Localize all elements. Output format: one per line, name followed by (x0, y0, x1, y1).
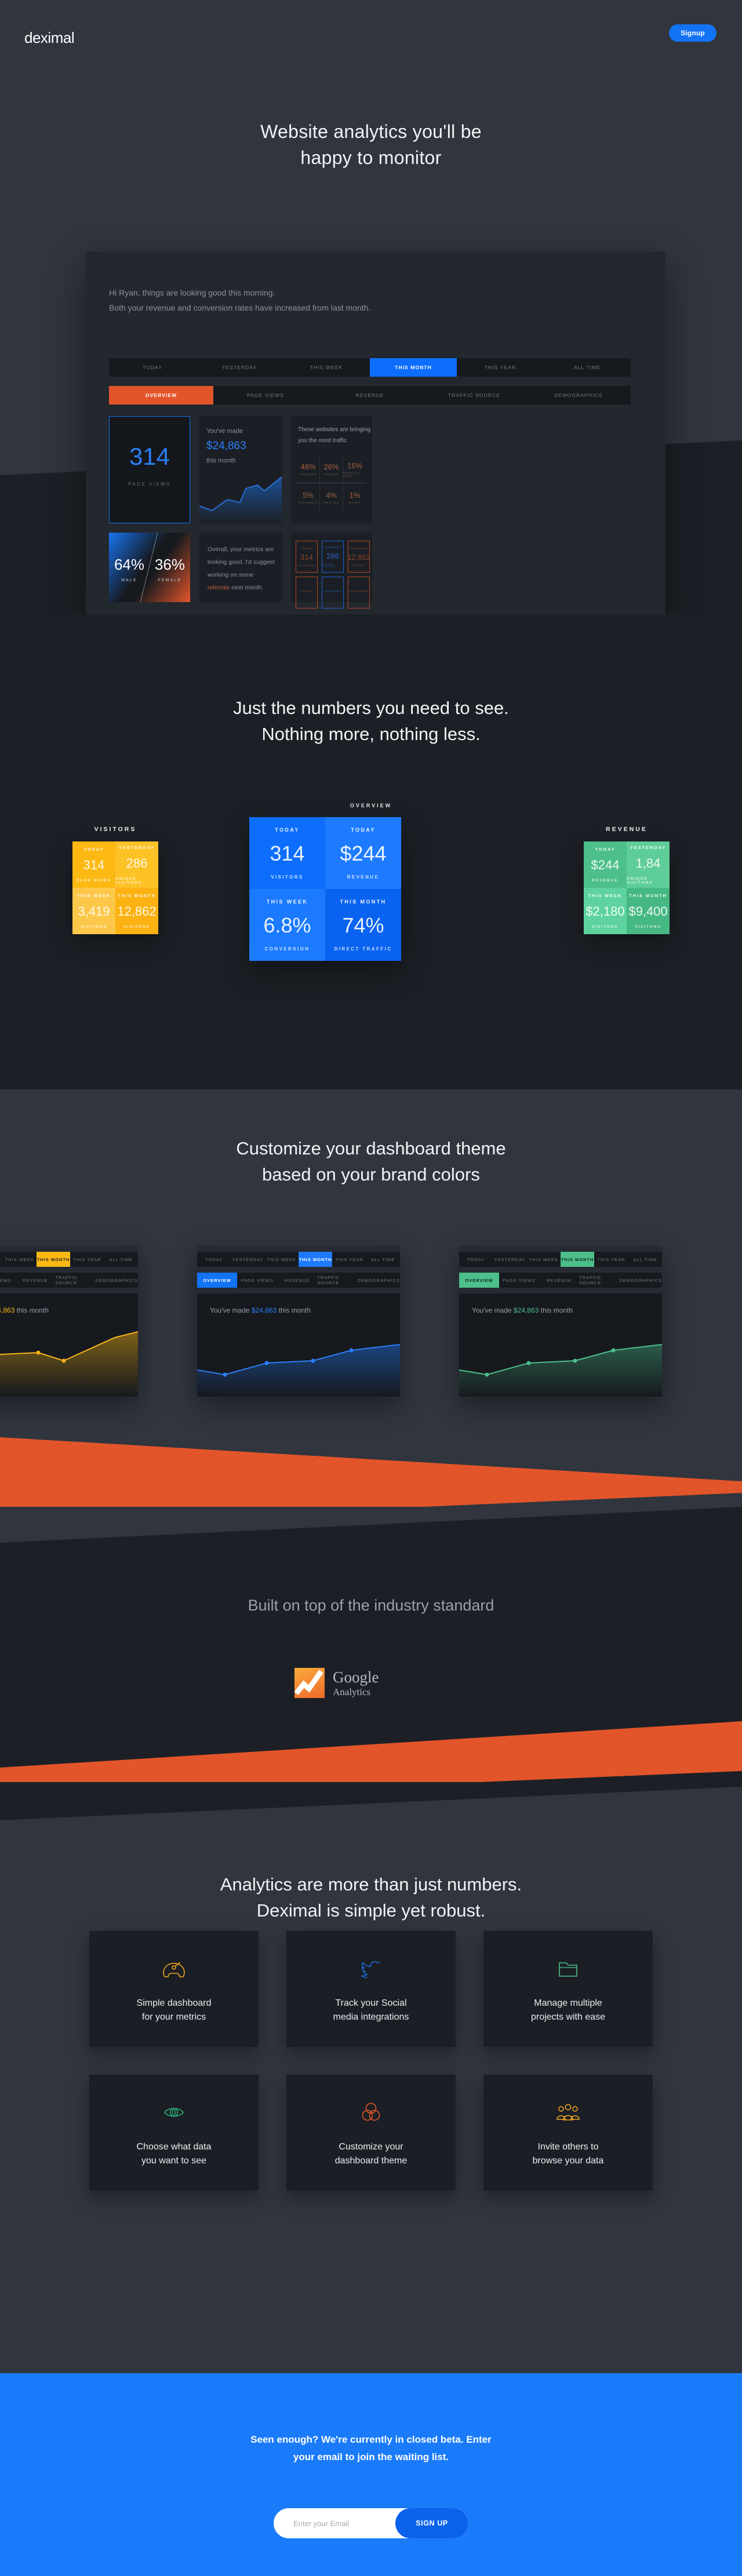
feature-label: Customize your dashboard theme (335, 2140, 408, 2168)
traffic-item: 16%PRODUCT HUNT (343, 456, 366, 483)
section-tab-traffic-source[interactable]: TRAFFIC SOURCE (317, 1273, 357, 1288)
hero-title-line-1: Website analytics you'll be (0, 119, 742, 145)
mini-box-row: TODAY YESTERDAY THIS MONTH (296, 577, 370, 609)
hero-section: deximal Signup Website analytics you'll … (0, 0, 742, 614)
section-tab-demographics[interactable]: DEMOGRAPHICS (357, 1273, 400, 1288)
range-tab-this-year[interactable]: THIS YEAR (332, 1252, 366, 1267)
range-tab-today[interactable]: TODAY (109, 358, 196, 377)
visitors-group-label: VISITORS (72, 826, 158, 833)
traffic-item: 26%GOOGLE (320, 456, 343, 483)
mini-stat-box: TODAY314PAGE VIEWS (296, 541, 318, 573)
female-value: 36% (150, 556, 190, 574)
theme-chart-body: You've made $24,863 this month (459, 1294, 662, 1397)
features-wedge (0, 1782, 742, 1823)
range-tab-this-week[interactable]: THIS WEEK (527, 1252, 561, 1267)
visitors-tile-grid: TODAY314PAGE VIEWS YESTERDAY286UNIQUE VI… (72, 841, 158, 934)
gender-male: 64% MALE (109, 556, 150, 582)
mini-stat-box: TODAY (296, 577, 318, 609)
cta-headline: Seen enough? We're currently in closed b… (0, 2431, 742, 2466)
advice-highlight: referrals (208, 584, 230, 591)
range-tab-this-week[interactable]: THIS WEEK (265, 1252, 299, 1267)
revenue-group-label: REVENUE (584, 826, 670, 833)
page-title: Website analytics you'll be happy to mon… (0, 119, 742, 172)
greeting-line-2: Both your revenue and conversion rates h… (109, 300, 370, 315)
mini-stat-box: THIS MONTH (348, 577, 370, 609)
greeting-line-1: Hi Ryan, things are looking good this mo… (109, 285, 370, 300)
stat-tile: THIS WEEK3,419VISITORS (72, 888, 115, 934)
range-tab-today[interactable]: TODAY (459, 1252, 493, 1267)
theme-section-tabs[interactable]: OVERVIEW PAGE VIEWS REVENUE TRAFFIC SOUR… (197, 1273, 400, 1288)
theme-title-line-1: Customize your dashboard theme (0, 1136, 742, 1162)
revenue-pre: You've made (206, 425, 246, 438)
folder-icon (556, 1954, 580, 1984)
hero-title-line-2: happy to monitor (0, 145, 742, 171)
advice-card: Overall, your metrics are looking good. … (199, 533, 282, 602)
eye-icon (162, 2097, 185, 2127)
mini-stat-box: YESTERDAY (322, 577, 344, 609)
cta-section: Seen enough? We're currently in closed b… (0, 2373, 742, 2576)
traffic-pct: 16% (347, 461, 362, 470)
revenue-sparkline (199, 476, 282, 523)
advice-text: Overall, your metrics are looking good. … (208, 543, 276, 594)
numbers-title-line-1: Just the numbers you need to see. (0, 695, 742, 722)
gauge-icon (162, 1954, 185, 1984)
range-tab-all-time[interactable]: ALL TIME (366, 1252, 400, 1267)
range-tab-all-time[interactable]: ALL TIME (628, 1252, 662, 1267)
cta-line-1: Seen enough? We're currently in closed b… (0, 2431, 742, 2449)
theme-chart-blue (197, 1327, 400, 1397)
traffic-pct: 48% (300, 462, 315, 471)
google-analytics-logo: Google Analytics (294, 1668, 379, 1698)
traffic-name: FACEBOOK (299, 473, 317, 476)
traffic-item: 4%TWITTER (320, 483, 343, 511)
range-tab-this-month[interactable]: THIS MONTH (299, 1252, 332, 1267)
traffic-item: 48%FACEBOOK (297, 456, 320, 483)
range-tab-this-year[interactable]: THIS YEAR (70, 1252, 104, 1267)
theme-range-tabs[interactable]: TODAY YESTERDAY THIS WEEK THIS MONTH THI… (197, 1252, 400, 1267)
dashboard-range-tabs[interactable]: TODAY YESTERDAY THIS WEEK THIS MONTH THI… (109, 358, 631, 377)
theme-preview-blue[interactable]: TODAY YESTERDAY THIS WEEK THIS MONTH THI… (197, 1246, 400, 1397)
section-tab-revenue[interactable]: REVENUE (277, 1273, 317, 1288)
section-tab-revenue[interactable]: REVENUE (318, 386, 422, 405)
range-tab-this-week[interactable]: THIS WEEK (283, 358, 370, 377)
signup-button[interactable]: Signup (669, 24, 716, 42)
theme-caption: You've made $24,863 this month (472, 1306, 573, 1314)
traffic-name: PRODUCT HUNT (343, 472, 366, 478)
range-tab-all-time[interactable]: ALL TIME (544, 358, 631, 377)
traffic-pct: 5% (303, 491, 314, 500)
google-title: Built on top of the industry standard (0, 1597, 742, 1615)
theme-caption: You've made $24,863 this month (0, 1306, 49, 1314)
stat-tile: YESTERDAY1,84UNIQUE VISITORS (627, 841, 670, 888)
section-tab-traffic-source[interactable]: TRAFFIC SOURCE (579, 1273, 619, 1288)
theme-range-tabs[interactable]: TODAY YESTERDAY THIS WEEK THIS MONTH THI… (459, 1252, 662, 1267)
mini-stat-boxes-card: TODAY314PAGE VIEWS YESTERDAY286UNIQUE VI… (291, 533, 372, 602)
section-tab-page-views[interactable]: PAGE VIEWS (237, 1273, 277, 1288)
pageviews-value: 314 (110, 443, 190, 471)
range-tab-today[interactable]: TODAY (197, 1252, 231, 1267)
feature-label: Manage multiple projects with ease (531, 1996, 605, 2024)
features-title-line-2: Deximal is simple yet robust. (0, 1898, 742, 1924)
range-tab-yesterday[interactable]: YESTERDAY (231, 1252, 264, 1267)
stat-tile: THIS MONTH12,862VISITORS (115, 888, 158, 934)
features-title: Analytics are more than just numbers. De… (0, 1872, 742, 1924)
revenue-card: You've made $24,863 this month (199, 416, 282, 523)
analytics-word: Analytics (333, 1687, 379, 1697)
numbers-title: Just the numbers you need to see. Nothin… (0, 695, 742, 748)
stat-tile: THIS WEEK6.8%CONVERSION (249, 889, 325, 961)
section-tab-overview[interactable]: OVERVIEW (459, 1273, 499, 1288)
feature-card-simple-dashboard[interactable]: Simple dashboard for your metrics (89, 1931, 259, 2047)
traffic-grid: 48%FACEBOOK 26%GOOGLE 16%PRODUCT HUNT 5%… (297, 456, 366, 511)
advice-text-a: Overall, your metrics are looking good. … (208, 546, 275, 578)
gender-split-card: 64% MALE 36% FEMALE (109, 533, 190, 602)
gender-female: 36% FEMALE (150, 556, 190, 582)
google-word: Google (333, 1670, 379, 1685)
section-tab-traffic-source[interactable]: TRAFFIC SOURCE (422, 386, 526, 405)
theme-caption-amount: $24,863 (252, 1306, 277, 1314)
feature-card-multiple-projects[interactable]: Manage multiple projects with ease (483, 1931, 653, 2047)
venn-icon (359, 2097, 383, 2127)
google-analytics-wordmark: Google Analytics (333, 1670, 379, 1697)
stat-tile: TODAY314VISITORS (249, 817, 325, 889)
section-tab-overview[interactable]: OVERVIEW (109, 386, 213, 405)
female-label: FEMALE (150, 578, 190, 582)
numbers-title-line-2: Nothing more, nothing less. (0, 722, 742, 748)
stat-tile: TODAY$244REVENUE (325, 817, 401, 889)
dashboard-greeting: Hi Ryan, things are looking good this mo… (109, 285, 370, 315)
feature-card-customize-theme[interactable]: Customize your dashboard theme (286, 2075, 456, 2191)
range-tab-yesterday[interactable]: YESTERDAY (196, 358, 283, 377)
stat-tile: YESTERDAY286UNIQUE VISITORS (115, 841, 158, 888)
section-tab-overview[interactable]: OVERVIEW (197, 1273, 237, 1288)
twitter-icon (359, 1954, 383, 1984)
feature-card-choose-data[interactable]: Choose what data you want to see (89, 2075, 259, 2191)
section-tab-revenue[interactable]: REVENUE (15, 1273, 55, 1288)
range-tab-all-time[interactable]: ALL TIME (104, 1252, 138, 1267)
stat-tile: TODAY314PAGE VIEWS (72, 841, 115, 888)
google-wedge (0, 1507, 742, 1547)
traffic-name: GOOGLE (324, 473, 339, 476)
range-tab-this-year[interactable]: THIS YEAR (457, 358, 544, 377)
people-icon (555, 2097, 581, 2127)
feature-label: Choose what data you want to see (137, 2140, 212, 2168)
section-tab-page-views[interactable]: PAGE VIEWS (213, 386, 318, 405)
revenue-post: this month (206, 455, 246, 467)
overview-tile-grid: TODAY314VISITORS TODAY$244REVENUE THIS W… (249, 817, 401, 961)
theme-chart-yellow (0, 1327, 138, 1397)
section-tab-page-views[interactable]: PAGE VIEWS (0, 1273, 15, 1288)
theme-caption-amount: $24,863 (0, 1306, 14, 1314)
section-tab-page-views[interactable]: PAGE VIEWS (499, 1273, 539, 1288)
stat-tile: THIS MONTH$9,400VISITORS (627, 888, 670, 934)
feature-label: Track your Social media integrations (333, 1996, 409, 2024)
traffic-pct: 1% (350, 491, 361, 500)
range-tab-this-month[interactable]: THIS MONTH (561, 1252, 594, 1267)
mini-stat-box: YESTERDAY286UNIQUE VISITORS (322, 541, 344, 573)
theme-chart-green (459, 1327, 662, 1397)
feature-label: Invite others to browse your data (533, 2140, 604, 2168)
traffic-pct: 4% (326, 491, 337, 500)
male-label: MALE (109, 578, 150, 582)
traffic-name: PINTEREST (299, 501, 318, 504)
theme-section-tabs[interactable]: OVERVIEW PAGE VIEWS REVENUE TRAFFIC SOUR… (0, 1273, 138, 1288)
email-input[interactable] (274, 2508, 395, 2538)
revenue-card-text: You've made $24,863 this month (206, 425, 246, 467)
theme-range-tabs[interactable]: TODAY YESTERDAY THIS WEEK THIS MONTH THI… (0, 1252, 138, 1267)
stat-tile: THIS WEEK$2,180VISITORS (584, 888, 627, 934)
section-tab-traffic-source[interactable]: TRAFFIC SOURCE (55, 1273, 95, 1288)
traffic-heading: These websites are bringing you the most… (298, 424, 370, 446)
theme-chart-body: You've made $24,863 this month (0, 1294, 138, 1397)
signup-form[interactable]: SIGN UP (274, 2508, 468, 2538)
traffic-item: 5%PINTEREST (297, 483, 320, 511)
mini-stat-box: THIS MONTH12,862VISITORS (348, 541, 370, 573)
feature-card-social-tracking[interactable]: Track your Social media integrations (286, 1931, 456, 2047)
traffic-heading-line-2: you the most traffic (298, 435, 370, 446)
theme-preview-green[interactable]: TODAY YESTERDAY THIS WEEK THIS MONTH THI… (459, 1246, 662, 1397)
traffic-name: TWITTER (323, 501, 339, 504)
revenue-amount: $24,863 (206, 438, 246, 455)
traffic-pct: 26% (323, 462, 339, 471)
range-tab-this-week[interactable]: THIS WEEK (3, 1252, 37, 1267)
theme-caption-amount: $24,863 (514, 1306, 539, 1314)
feature-card-invite-others[interactable]: Invite others to browse your data (483, 2075, 653, 2191)
stat-tile: TODAY$244REVENUE (584, 841, 627, 888)
theme-preview-yellow[interactable]: TODAY YESTERDAY THIS WEEK THIS MONTH THI… (0, 1246, 138, 1397)
male-value: 64% (109, 556, 150, 574)
signup-submit-button[interactable]: SIGN UP (395, 2508, 468, 2538)
pageviews-label: PAGE VIEWS (110, 482, 190, 487)
section-tab-demographics[interactable]: DEMOGRAPHICS (526, 386, 631, 405)
stat-tile: THIS MONTH74%DIRECT TRAFFIC (325, 889, 401, 961)
traffic-name: OTHER (349, 501, 361, 504)
features-grid: Simple dashboard for your metrics Track … (89, 1931, 653, 2191)
google-analytics-mark-icon (294, 1668, 325, 1698)
pageviews-card: 314 PAGE VIEWS (109, 416, 190, 523)
section-tab-demographics[interactable]: DEMOGRAPHICS (619, 1273, 662, 1288)
traffic-heading-line-1: These websites are bringing (298, 424, 370, 435)
theme-section-tabs[interactable]: OVERVIEW PAGE VIEWS REVENUE TRAFFIC SOUR… (459, 1273, 662, 1288)
mini-box-row: TODAY314PAGE VIEWS YESTERDAY286UNIQUE VI… (296, 541, 370, 573)
traffic-sources-card: These websites are bringing you the most… (291, 416, 372, 523)
theme-title-line-2: based on your brand colors (0, 1162, 742, 1188)
range-tab-this-month[interactable]: THIS MONTH (37, 1252, 70, 1267)
section-tab-demographics[interactable]: DEMOGRAPHICS (95, 1273, 138, 1288)
dashboard-section-tabs[interactable]: OVERVIEW PAGE VIEWS REVENUE TRAFFIC SOUR… (109, 386, 631, 405)
range-tab-this-year[interactable]: THIS YEAR (594, 1252, 628, 1267)
feature-label: Simple dashboard for your metrics (137, 1996, 212, 2024)
traffic-item: 1%OTHER (343, 483, 366, 511)
theme-title: Customize your dashboard theme based on … (0, 1136, 742, 1188)
overview-group-label: OVERVIEW (0, 803, 742, 808)
range-tab-this-month[interactable]: THIS MONTH (370, 358, 457, 377)
theme-chart-body: You've made $24,863 this month (197, 1294, 400, 1397)
theme-caption: You've made $24,863 this month (210, 1306, 311, 1314)
range-tab-yesterday[interactable]: YESTERDAY (493, 1252, 526, 1267)
brand-logo[interactable]: deximal (24, 29, 74, 47)
features-title-line-1: Analytics are more than just numbers. (0, 1872, 742, 1898)
cta-line-2: your email to join the waiting list. (0, 2449, 742, 2466)
advice-text-b: next month. (230, 584, 264, 591)
dashboard-mockup: Hi Ryan, things are looking good this mo… (86, 252, 665, 614)
revenue-tile-grid: TODAY$244REVENUE YESTERDAY1,84UNIQUE VIS… (584, 841, 670, 934)
section-tab-revenue[interactable]: REVENUE (539, 1273, 579, 1288)
